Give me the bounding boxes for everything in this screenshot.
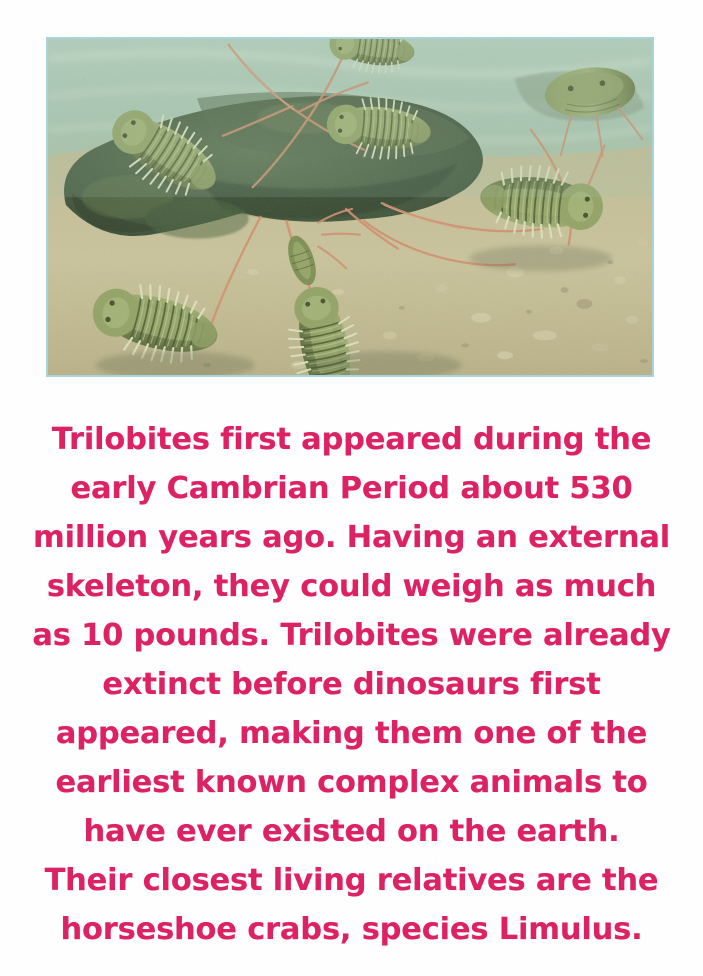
caption-line: as 10 pounds. Trilobites were already [20,611,683,660]
caption-line: skeleton, they could weigh as much [20,562,683,611]
caption-text-block: Trilobites first appeared during the ear… [20,415,683,954]
caption-line: horseshoe crabs, species Limulus. [20,905,683,954]
caption-line: have ever existed on the earth. [20,807,683,856]
trilobite-seafloor-photo [48,39,652,375]
caption-line: appeared, making them one of the [20,709,683,758]
caption-line: early Cambrian Period about 530 [20,464,683,513]
caption-line: million years ago. Having an external [20,513,683,562]
caption-line: Their closest living relatives are the [20,856,683,905]
fact-card-page: Trilobites first appeared during the ear… [0,0,703,976]
caption-line: earliest known complex animals to [20,758,683,807]
trilobite-photo-frame [46,37,654,377]
photo-illustration [48,39,652,375]
caption-line: Trilobites first appeared during the [20,415,683,464]
caption-line: extinct before dinosaurs first [20,660,683,709]
